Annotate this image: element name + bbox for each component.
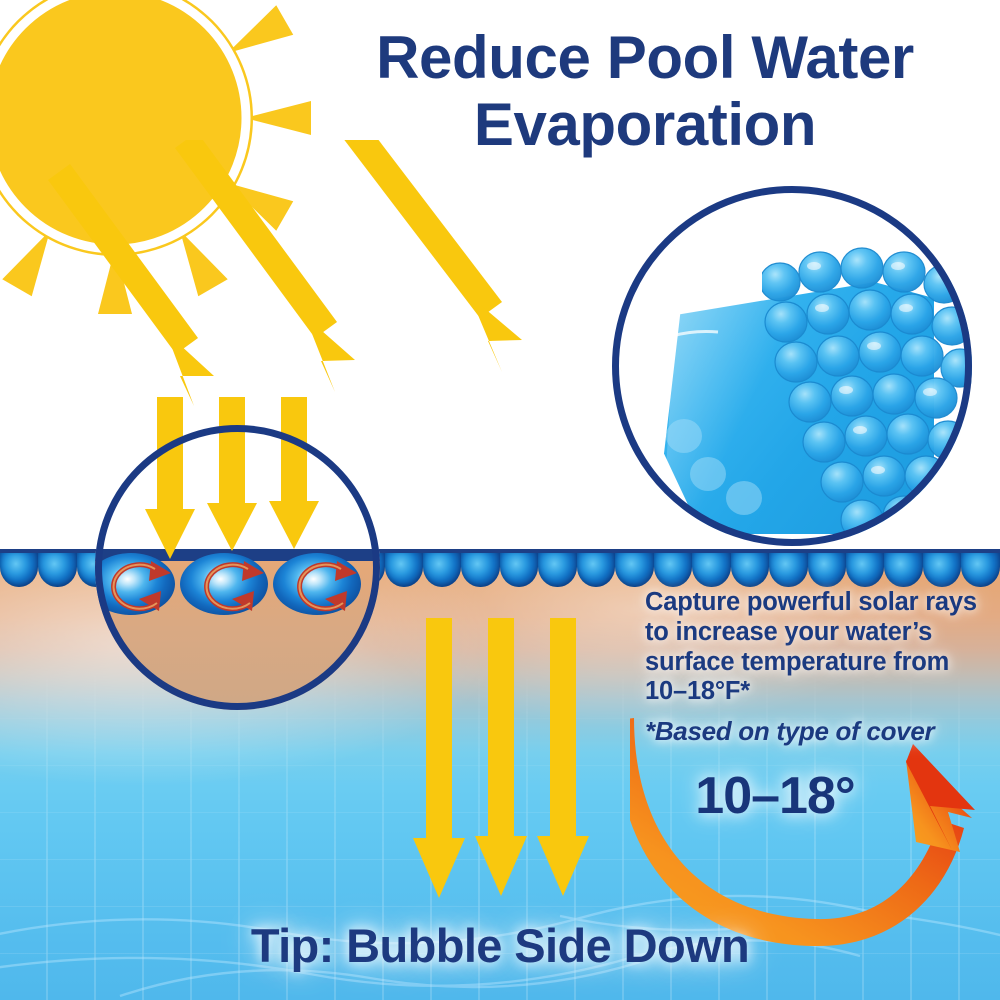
cover-bubble bbox=[538, 553, 576, 587]
tip-text: Tip: Bubble Side Down bbox=[0, 918, 1000, 973]
cover-bubble bbox=[385, 553, 423, 587]
cover-bubble bbox=[423, 553, 461, 587]
cover-bubble bbox=[961, 553, 999, 587]
solar-cover-photo-inset bbox=[612, 186, 972, 546]
page-title: Reduce Pool Water Evaporation bbox=[300, 24, 990, 158]
title-line-1: Reduce Pool Water bbox=[300, 24, 990, 91]
cover-bubble bbox=[846, 553, 884, 587]
cover-bubble bbox=[38, 553, 76, 587]
callout-footnote: *Based on type of cover bbox=[645, 716, 990, 747]
cover-bubble bbox=[692, 553, 730, 587]
cover-bubble bbox=[731, 553, 769, 587]
callout-body: Capture powerful solar rays to increase … bbox=[645, 588, 990, 707]
infographic-canvas: Reduce Pool Water Evaporation Capture po… bbox=[0, 0, 1000, 1000]
title-line-2: Evaporation bbox=[300, 91, 990, 158]
cover-bubble bbox=[654, 553, 692, 587]
cover-bubble bbox=[923, 553, 961, 587]
heat-circulation-inset bbox=[95, 425, 380, 710]
cover-bubble bbox=[0, 553, 38, 587]
cover-bubble bbox=[808, 553, 846, 587]
cover-bubble bbox=[884, 553, 922, 587]
cover-bubble bbox=[615, 553, 653, 587]
inset-ring-border bbox=[612, 186, 972, 546]
inset-ring-border bbox=[95, 425, 380, 710]
cover-bubble bbox=[461, 553, 499, 587]
temperature-value: 10–18° bbox=[660, 766, 890, 826]
cover-bubble bbox=[577, 553, 615, 587]
heat-down-arrows bbox=[412, 618, 602, 908]
cover-bubble bbox=[500, 553, 538, 587]
cover-bubble bbox=[769, 553, 807, 587]
